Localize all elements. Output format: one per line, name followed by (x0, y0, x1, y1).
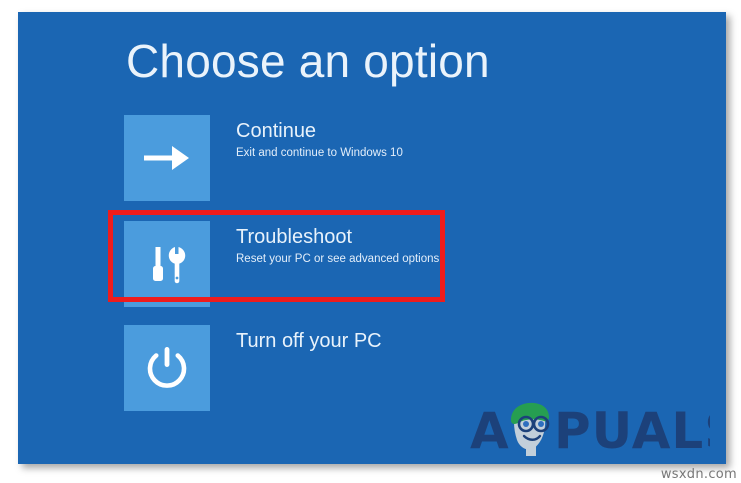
option-troubleshoot-tile[interactable] (124, 221, 210, 307)
site-watermark: wsxdn.com (661, 467, 737, 482)
page-title: Choose an option (126, 36, 490, 87)
screwdriver-wrench-icon (144, 241, 190, 287)
option-shutdown-text: Turn off your PC (236, 329, 466, 355)
option-continue-text: Continue Exit and continue to Windows 10 (236, 119, 466, 161)
option-shutdown-tile[interactable] (124, 325, 210, 411)
arrow-right-icon (142, 138, 192, 178)
option-continue-subtitle: Exit and continue to Windows 10 (236, 145, 466, 161)
option-troubleshoot-text: Troubleshoot Reset your PC or see advanc… (236, 225, 466, 267)
option-shutdown[interactable]: Turn off your PC (124, 325, 464, 411)
option-troubleshoot[interactable]: Troubleshoot Reset your PC or see advanc… (124, 221, 464, 307)
appuals-mascot-icon (511, 403, 549, 456)
appuals-logo: A PUALS (470, 398, 710, 464)
svg-text:PUALS: PUALS (554, 402, 710, 460)
option-continue-title: Continue (236, 119, 466, 143)
option-shutdown-title: Turn off your PC (236, 329, 466, 353)
option-continue-tile[interactable] (124, 115, 210, 201)
option-continue[interactable]: Continue Exit and continue to Windows 10 (124, 115, 464, 201)
recovery-screen: Choose an option Continue Exit and conti… (18, 12, 726, 464)
option-troubleshoot-subtitle: Reset your PC or see advanced options (236, 251, 466, 267)
svg-text:A: A (470, 402, 509, 460)
option-troubleshoot-title: Troubleshoot (236, 225, 466, 249)
power-icon (143, 344, 191, 392)
